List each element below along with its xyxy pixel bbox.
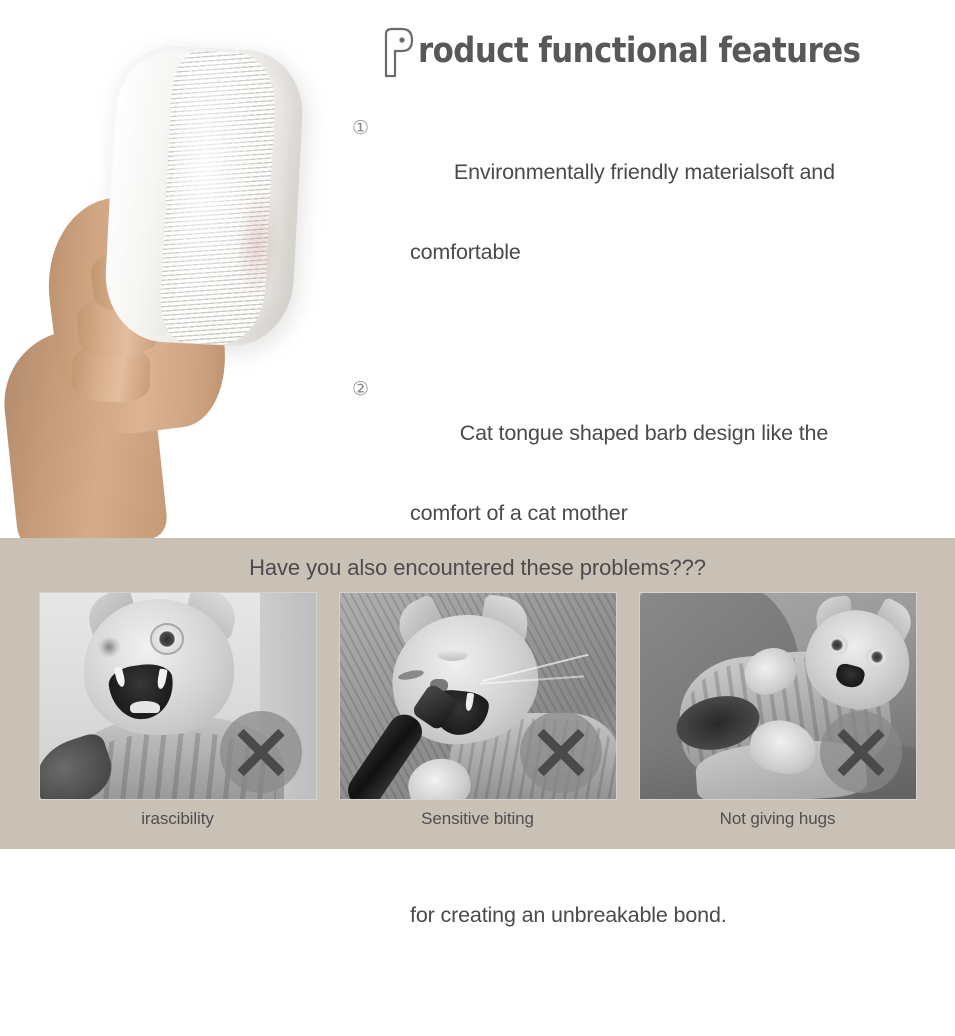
feature-line-2: for creating an unbreakable bond. [384,895,882,935]
cat-eye-left [98,637,120,657]
feature-line-2: comfortable [384,232,835,272]
problems-section: Have you also encountered these problems… [0,538,955,849]
product-feature-page: roduct functional features ① Environment… [0,0,955,849]
brush-tint [233,189,283,301]
dropcap-p-icon [378,26,418,78]
features-text-column: roduct functional features ① Environment… [352,0,955,538]
feature-line-1: Environmentally friendly materialsoft an… [454,160,835,184]
red-x-icon [820,711,902,793]
cat-eye-right [152,625,182,653]
problem-card: Sensitive biting [339,592,617,829]
problem-photo-not-giving-hugs [639,592,917,800]
problem-photo-sensitive-biting [339,592,617,800]
problem-caption: Sensitive biting [339,800,617,829]
red-x-icon [220,711,302,793]
problems-heading: Have you also encountered these problems… [0,538,955,581]
problem-caption: Not giving hugs [639,800,917,829]
problem-photo-irascibility [39,592,317,800]
cat-tongue [130,701,160,713]
problem-card: Not giving hugs [639,592,917,829]
problem-card: irascibility [39,592,317,829]
cat-eye-left [826,635,848,655]
hand-holding-brush-illustration [0,0,352,538]
page-title-text: roduct functional features [418,26,860,76]
page-title: roduct functional features [378,26,921,78]
cat-eye-right [866,647,888,667]
feature-item: ① Environmentally friendly materialsoft … [352,112,932,352]
red-x-icon [520,711,602,793]
hero-product-photo [0,0,352,538]
feature-text: Environmentally friendly materialsoft an… [384,112,835,352]
feature-number: ① [352,112,382,145]
feature-line-2: comfort of a cat mother [384,493,828,533]
problem-cards: irascibility [0,592,955,829]
features-section: roduct functional features ① Environment… [0,0,955,538]
cat-eye-right [438,649,468,661]
feature-line-1: Cat tongue shaped barb design like the [454,421,828,445]
feature-number: ② [352,373,382,406]
problem-caption: irascibility [39,800,317,829]
